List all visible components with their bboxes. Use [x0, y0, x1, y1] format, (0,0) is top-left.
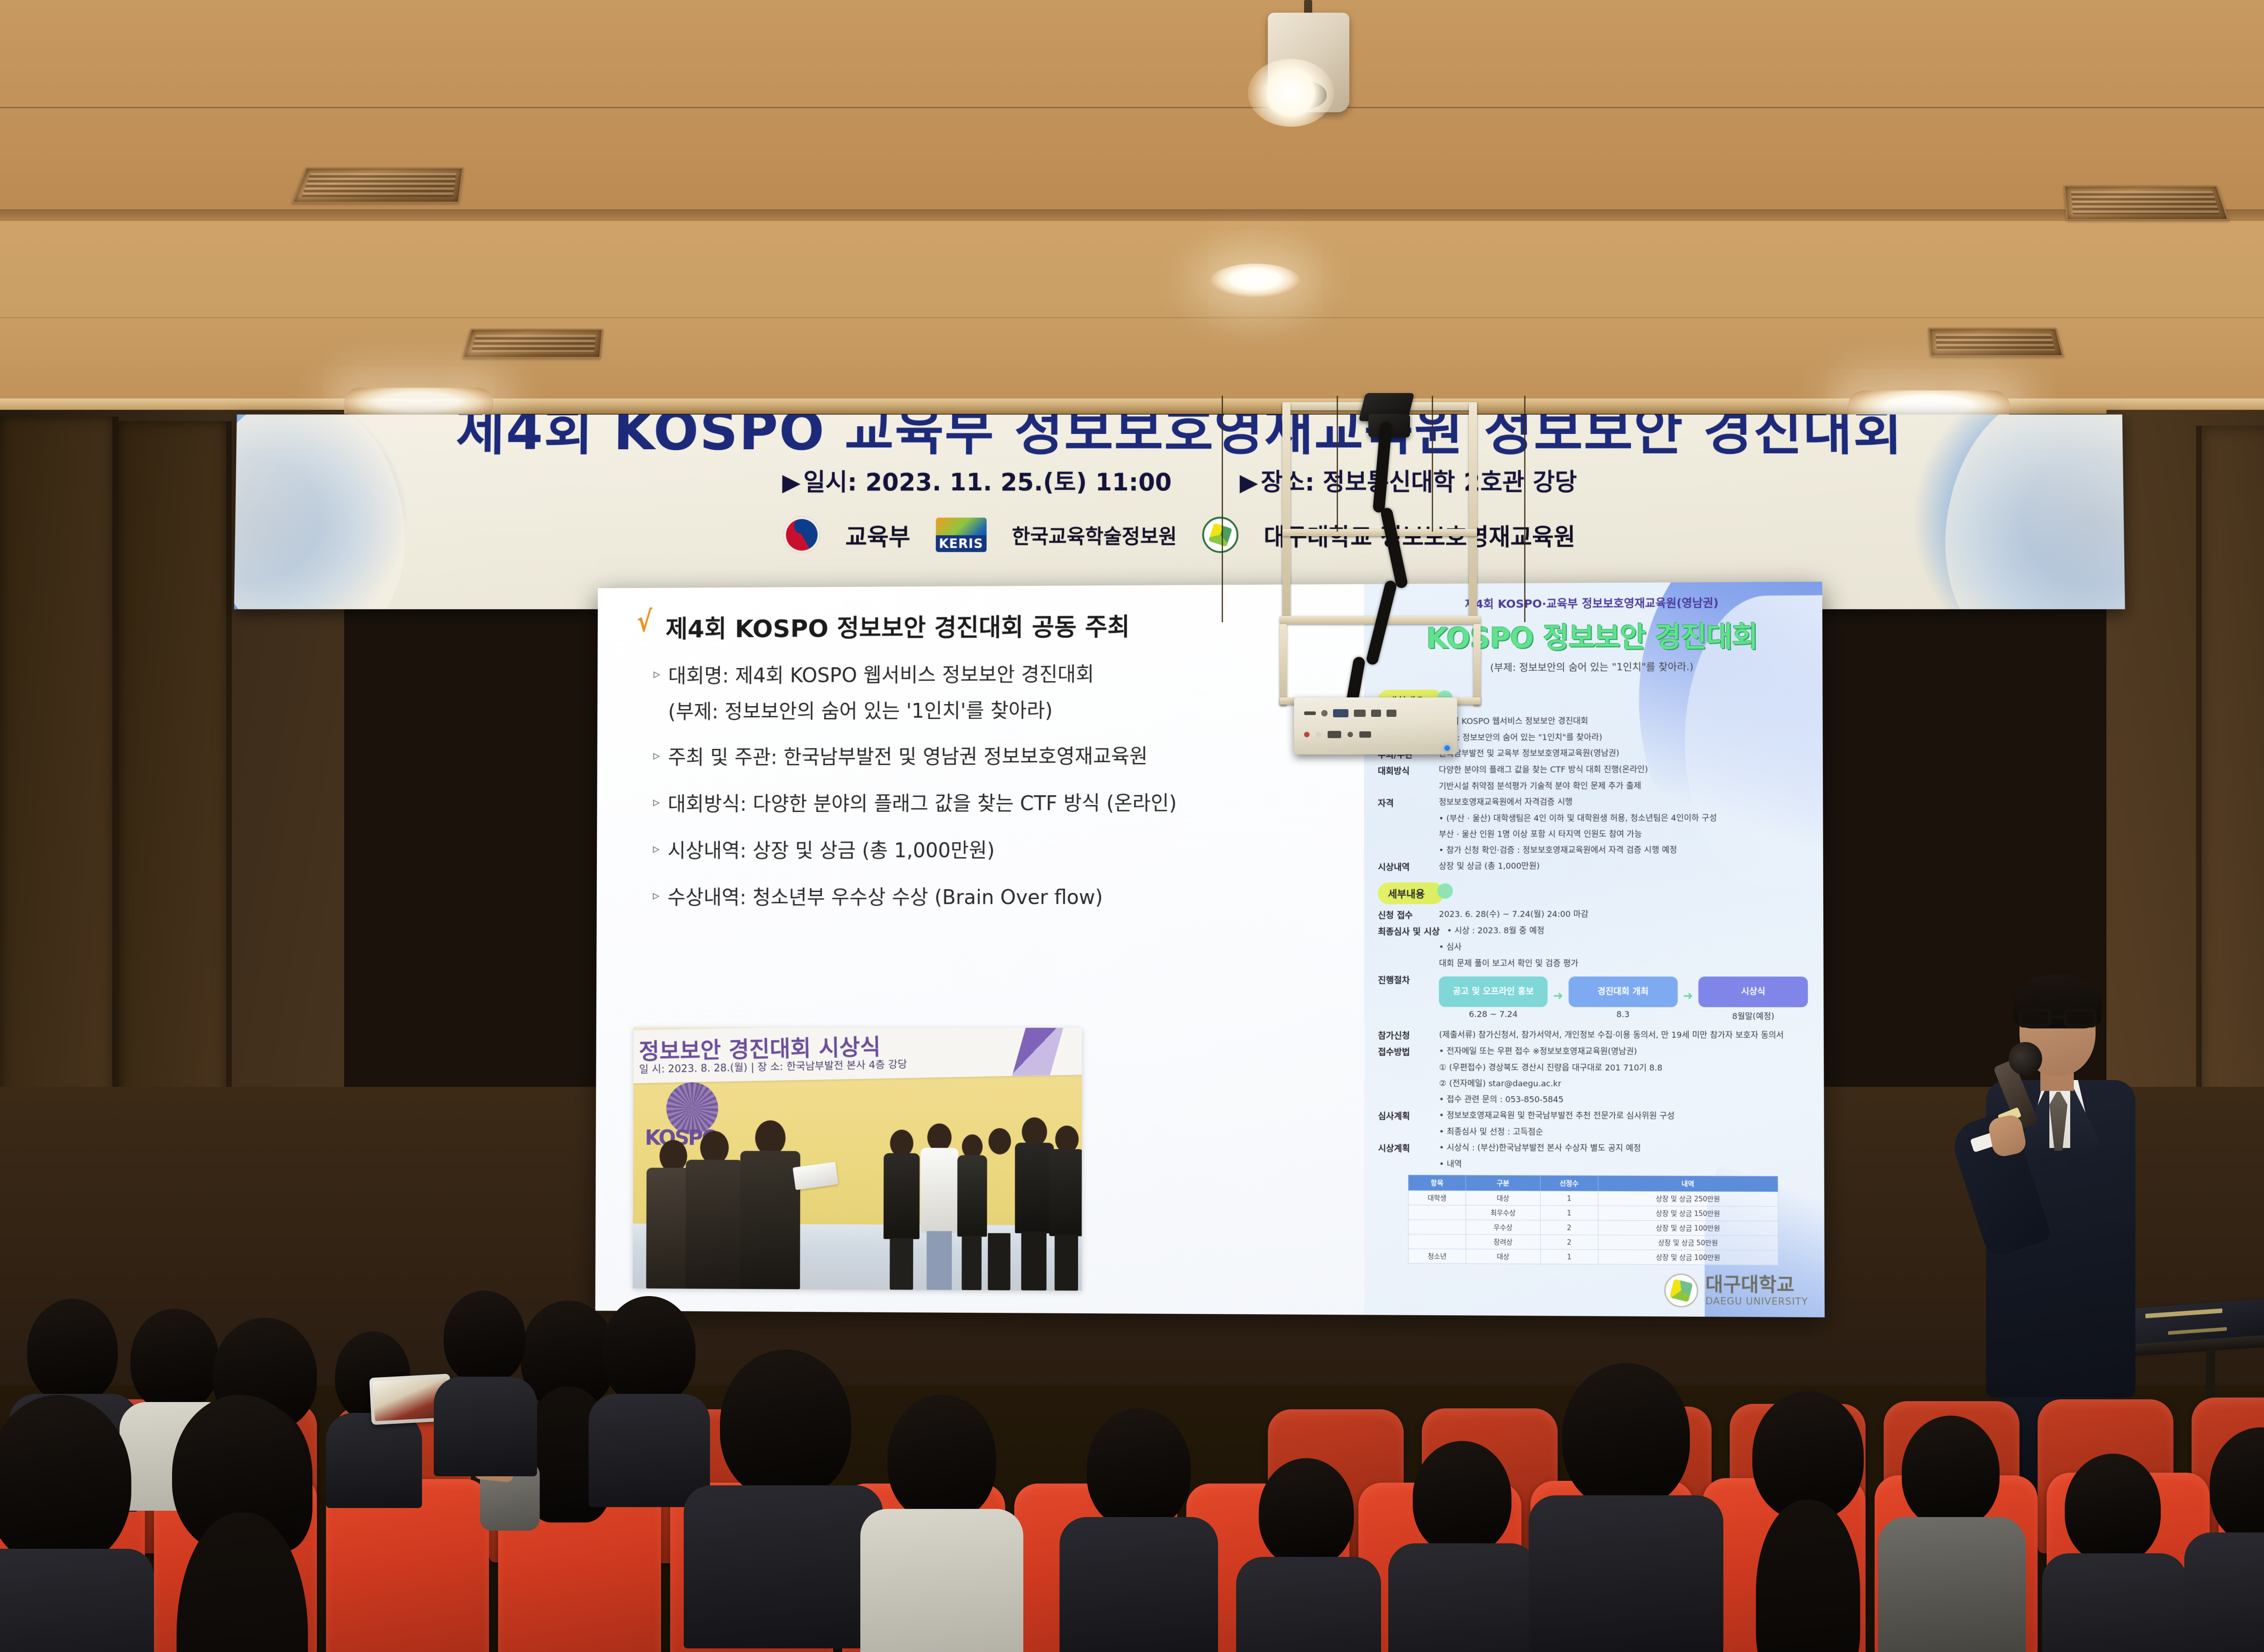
rig-suspension-wire [1524, 396, 1525, 622]
daegu-university-seal-icon [1202, 517, 1238, 553]
spotlight-beam [1248, 59, 1334, 127]
lan-port-icon [1386, 710, 1396, 717]
slide-bullet: ▹ 시상내역: 상장 및 상금 (총 1,000만원) [653, 837, 1352, 864]
poster-kv-key: 접수방법 [1378, 1045, 1432, 1057]
audio-port-icon [1328, 731, 1341, 738]
rig-post [1280, 624, 1287, 706]
audience-head [602, 1296, 696, 1405]
table-row: 최우수상 1 상장 및 상금 150만원 [1408, 1205, 1778, 1221]
bullet-triangle-icon: ▹ [653, 663, 660, 685]
audience-shoulders [2042, 1553, 2187, 1652]
slide-heading: 제4회 KOSPO 정보보안 경진대회 공동 주최 [666, 607, 1130, 644]
poster-kv-row: • 참가 신청 확인·검증 : 정보보호영재교육원에서 자격 검증 시행 예정 [1378, 844, 1808, 857]
award-cell: 상장 및 상금 100만원 [1598, 1220, 1778, 1236]
audience-head [130, 1309, 219, 1411]
table-row: 장려상 2 상장 및 상금 50만원 [1408, 1234, 1778, 1251]
hvac-vent-icon [462, 329, 604, 359]
rig-suspension-wire [1432, 396, 1433, 532]
poster-kv-row: 자격 정보보호영재교육원에서 자격검증 시행 [1378, 796, 1807, 809]
poster-kv-key [1378, 941, 1432, 953]
poster-pill-detail: 세부내용 [1378, 883, 1444, 904]
slide-bullet: ▹ 수상내역: 청소년부 우수상 수상 (Brain Over flow) [653, 884, 1352, 911]
ceiling-seam [0, 107, 2264, 108]
poster-kv-key [1378, 813, 1432, 825]
slide-bullet: ▹ 주최 및 주관: 한국남부발전 및 영남권 정보보호영재교육원 [653, 743, 1352, 771]
ceiling-seam [0, 317, 2264, 318]
event-banner: 제4회 KOSPO 교육부 정보보호영재교육원 정보보안 경진대회 ▶일시: 2… [234, 414, 2125, 609]
vga-port-icon [1333, 709, 1348, 717]
poster-flow-diagram: 공고 및 오프라인 홍보 6.28 ~ 7.24 ➜ 경진대회 개최 8.3 ➜… [1439, 976, 1808, 1022]
table-row: 우수상 2 상장 및 상금 100만원 [1408, 1220, 1778, 1236]
poster-kv-key [1378, 1126, 1432, 1138]
audience-shoulders [684, 1485, 883, 1648]
usb-port-icon [1371, 710, 1381, 717]
poster-kv-key: 자격 [1378, 797, 1432, 809]
poster-kv-key: 최종심사 및 시상 [1378, 925, 1439, 937]
poster-kv-key: 시상계획 [1378, 1142, 1432, 1154]
poster-kv-key: 심사계획 [1378, 1109, 1432, 1122]
audience-shoulders [1060, 1517, 1218, 1652]
flow-step-date: 8월말(예정) [1698, 1010, 1808, 1022]
award-cell: 대상 [1466, 1191, 1540, 1206]
banner-date-text: 일시: 2023. 11. 25.(토) 11:00 [803, 469, 1172, 496]
port-icon [1304, 711, 1316, 715]
banner-date: ▶일시: 2023. 11. 25.(토) 11:00 [782, 463, 1171, 498]
bullet-triangle-icon: ▹ [653, 838, 660, 860]
poster-kv-key: 시상내역 [1378, 861, 1432, 873]
audience-head [1562, 1363, 1690, 1509]
poster-kv-value: 대회 문제 풀이 보고서 확인 및 검증 평가 [1439, 958, 1578, 970]
poster-kv-value: 다양한 분야의 플래그 값을 찾는 CTF 방식 대회 진행(온라인) [1439, 764, 1648, 777]
award-cell [1408, 1220, 1466, 1234]
rig-post [1473, 624, 1481, 706]
poster-kv-row: 대회 문제 풀이 보고서 확인 및 검증 평가 [1378, 958, 1808, 970]
banner-logo-label-keris: 한국교육학술정보원 [1012, 520, 1177, 549]
award-table: 항목 구분 선정수 내역 대학생 대상 1 상장 및 상금 250만원 [1408, 1175, 1779, 1265]
audience-shoulders [1388, 1543, 1538, 1652]
poster-kv-key [1378, 1078, 1432, 1090]
award-cell: 장려상 [1466, 1234, 1540, 1249]
audience-head [1087, 1408, 1191, 1529]
award-table-header-row: 항목 구분 선정수 내역 [1408, 1175, 1778, 1192]
rig-post [1282, 402, 1290, 619]
projector-cable [1380, 507, 1409, 589]
award-cell: 2 [1540, 1235, 1598, 1250]
poster-kv-value: • 내역 [1439, 1158, 1462, 1170]
bullet-triangle-icon: ▹ [653, 792, 660, 813]
ceiling-soffit [0, 221, 2264, 411]
award-cell: 1 [1540, 1205, 1598, 1220]
poster-kv-value: • 시상식 : (부산)한국남부발전 본사 수상자 별도 공지 예정 [1439, 1142, 1641, 1155]
poster-kv-value: 정보보호영재교육원에서 자격검증 시행 [1439, 797, 1573, 809]
poster-kv-row: 시상계획 • 시상식 : (부산)한국남부발전 본사 수상자 별도 공지 예정 [1378, 1142, 1808, 1156]
photo-banner: 정보보안 경진대회 시상식 일 시: 2023. 8. 28.(월) | 장 소… [633, 1028, 1082, 1084]
poster-kv-value: • 정보보호영재교육원 및 한국남부발전 추천 전문가로 심사위원 구성 [1439, 1110, 1674, 1123]
poster-kv-value: • 시상 : 2023. 8월 중 예정 [1447, 925, 1545, 937]
hvac-vent-icon [1928, 328, 2064, 357]
hvac-vent-icon [292, 167, 464, 203]
award-cell: 우수상 [1466, 1220, 1540, 1235]
banner-logo-strip: 교육부 KERIS 한국교육학술정보원 대구대학교 정보보호영재교육원 [235, 517, 2125, 553]
banner-logo-label-moe: 교육부 [845, 518, 911, 552]
rca-white-icon [1316, 732, 1321, 737]
award-cell: 1 [1540, 1191, 1598, 1206]
poster-kv-value: 부산 · 울산 인원 1명 이상 포함 시 타지역 인원도 참여 가능 [1439, 829, 1642, 841]
poster-kv-row: 부산 · 울산 인원 1명 이상 포함 시 타지역 인원도 참여 가능 [1378, 828, 1808, 841]
award-table-header: 선정수 [1540, 1176, 1598, 1191]
poster-kv-value: • 최종심사 및 선정 : 고득점순 [1439, 1126, 1543, 1138]
flow-step-box: 시상식 [1698, 976, 1808, 1007]
audience-shoulders [434, 1377, 537, 1476]
flow-step-box: 경진대회 개최 [1568, 976, 1678, 1007]
audience-shoulders [1878, 1517, 2026, 1652]
slide-bullet-text: 대회방식: 다양한 분야의 플래그 값을 찾는 CTF 방식 (온라인) [668, 791, 1177, 818]
poster-kv-row: 심사계획 • 정보보호영재교육원 및 한국남부발전 추천 전문가로 심사위원 구… [1378, 1109, 1808, 1123]
poster-kv-row: • 최종심사 및 선정 : 고득점순 [1378, 1126, 1808, 1139]
rig-post [1469, 402, 1477, 619]
rig-suspension-wire [1337, 396, 1338, 532]
award-cell: 상장 및 상금 250만원 [1598, 1191, 1778, 1207]
poster-kv-row: 시상내역 상장 및 상금 (총 1,000만원) [1378, 860, 1808, 873]
audience-shoulders [860, 1509, 1023, 1652]
audience-shoulders [1236, 1557, 1381, 1652]
flow-step-box: 공고 및 오프라인 홍보 [1439, 976, 1548, 1007]
slide-bullet-text: 대회명: 제4회 KOSPO 웹서비스 정보보안 경진대회 [668, 662, 1094, 689]
projector-power-led-icon [1444, 745, 1450, 751]
poster-kv-row: 신청 접수 2023. 6. 28(수) ~ 7.24(월) 24:00 마감 [1378, 909, 1808, 922]
poster-kv-key [1378, 958, 1432, 970]
poster-kv-row: 대회방식 다양한 분야의 플래그 값을 찾는 CTF 방식 대회 진행(온라인) [1378, 764, 1807, 777]
service-port-icon [1359, 731, 1371, 738]
korea-government-emblem-icon [784, 517, 820, 553]
poster-kv-key: 참가신청 [1378, 1029, 1432, 1041]
award-cell: 상장 및 상금 150만원 [1598, 1206, 1778, 1221]
poster-kv-row: 참가신청 (제출서류) 참가신청서, 참가서약서, 개인정보 수집·이용 동의서… [1378, 1029, 1808, 1042]
projector-connector-row [1304, 731, 1371, 738]
flow-step: 경진대회 개최 8.3 [1568, 976, 1678, 1019]
poster-kv-value: • 심사 [1439, 941, 1462, 953]
poster-kv-row: • 내역 [1378, 1158, 1808, 1172]
auditorium-scene: 제4회 KOSPO 교육부 정보보호영재교육원 정보보안 경진대회 ▶일시: 2… [0, 0, 2264, 1652]
arrow-right-icon: ➜ [1683, 976, 1693, 1003]
poster-kv-key [1378, 829, 1432, 841]
award-table-header: 내역 [1598, 1176, 1778, 1192]
arrow-right-icon: ➜ [1553, 976, 1563, 1003]
audience-head [27, 1299, 118, 1403]
flow-step: 공고 및 오프라인 홍보 6.28 ~ 7.24 [1439, 976, 1548, 1019]
table-row: 대학생 대상 1 상장 및 상금 250만원 [1408, 1191, 1778, 1206]
projection-screen: √ 제4회 KOSPO 정보보안 경진대회 공동 주최 ▹ 대회명: 제4회 K… [595, 581, 1825, 1317]
audience-shoulders [326, 1413, 422, 1508]
rig-suspension-wire [1222, 396, 1223, 622]
photo-banner-triangle-icon [1011, 1028, 1066, 1076]
award-table-header: 항목 [1408, 1175, 1466, 1191]
knob-icon [1321, 710, 1328, 716]
ceiling-edge-band [0, 209, 2264, 221]
rca-red-icon [1304, 732, 1309, 737]
flow-step-date: 8.3 [1568, 1010, 1678, 1019]
triangle-marker-icon: ▶ [1240, 469, 1258, 496]
poster-kv-value: 상장 및 상금 (총 1,000만원) [1439, 861, 1540, 873]
audience-section [0, 1259, 2264, 1652]
poster-kv-value: ② (전자메일) star@daegu.ac.kr [1439, 1078, 1561, 1090]
bullet-triangle-icon: ▹ [653, 745, 660, 767]
poster-kv-row: • 접수 관련 문의 : 053-850-5845 [1378, 1094, 1808, 1106]
bullet-triangle-icon: ▹ [653, 885, 660, 907]
poster-kv-value: 2023. 6. 28(수) ~ 7.24(월) 24:00 마감 [1439, 909, 1588, 921]
projector-port-row [1304, 709, 1396, 717]
rig-crossbar [1282, 529, 1477, 536]
triangle-marker-icon: ▶ [782, 469, 801, 496]
projector [1294, 697, 1457, 754]
award-cell: 2 [1540, 1220, 1598, 1235]
award-cell: 최우수상 [1466, 1205, 1540, 1220]
audience-head [2065, 1454, 2161, 1563]
audience-shoulders [1529, 1495, 1723, 1652]
hdmi-port-icon [1354, 710, 1366, 717]
checkmark-icon: √ [637, 610, 652, 635]
banner-info-row: ▶일시: 2023. 11. 25.(토) 11:00 ▶장소: 정보통신대학 … [235, 463, 2123, 498]
poster-kv-value: • 전자메일 또는 우편 접수 ※정보보호영재교육원(영남권) [1439, 1046, 1637, 1058]
slide-bullet-text: 수상내역: 청소년부 우수상 수상 (Brain Over flow) [667, 885, 1103, 911]
award-cell [1408, 1234, 1466, 1249]
poster-flow-label: 진행절차 [1378, 974, 1432, 1025]
poster-kv-key: 대회방식 [1378, 764, 1432, 777]
recessed-downlight-icon [1210, 264, 1300, 298]
award-cell: 상장 및 상금 50만원 [1598, 1235, 1778, 1250]
poster-kv-row: 접수방법 • 전자메일 또는 우편 접수 ※정보보호영재교육원(영남권) [1378, 1045, 1808, 1058]
slide-bullet: ▹ 대회명: 제4회 KOSPO 웹서비스 정보보안 경진대회 (부제: 정보보… [653, 661, 1352, 725]
poster-kv-row: ② (전자메일) star@daegu.ac.kr [1378, 1078, 1808, 1090]
poster-kv-value: • 참가 신청 확인·검증 : 정보보호영재교육원에서 자격 검증 시행 예정 [1439, 845, 1677, 857]
audience-head [444, 1291, 525, 1384]
ceiling-projector-rig [1268, 399, 1494, 765]
audience-shoulders [0, 1549, 154, 1652]
hvac-vent-icon [2063, 185, 2230, 221]
slide-left-column: √ 제4회 KOSPO 정보보안 경진대회 공동 주최 ▹ 대회명: 제4회 K… [595, 584, 1365, 1315]
slide-bullet-text: 시상내역: 상장 및 상금 (총 1,000만원) [667, 838, 994, 864]
audience-head [1413, 1441, 1511, 1554]
poster-kv-value: 기반시설 취약점 분석평가 기술적 분야 확인 문제 추가 출제 [1439, 780, 1641, 792]
poster-kv-key [1378, 1158, 1432, 1171]
award-cell [1408, 1205, 1466, 1220]
keris-logo-icon: KERIS [935, 518, 986, 552]
slide-bullet-subtext: (부제: 정보보안의 숨어 있는 '1인치'를 찾아라) [668, 694, 1094, 725]
poster-kv-row: 기반시설 취약점 분석평가 기술적 분야 확인 문제 추가 출제 [1378, 780, 1807, 792]
poster-kv-value: • (부산 · 울산) 대학생팀은 4인 이하 및 대학원생 허용, 청소년팀은… [1439, 812, 1717, 825]
poster-kv-key: 신청 접수 [1378, 909, 1432, 921]
poster-kv-key [1378, 1094, 1432, 1105]
audience-head [887, 1395, 996, 1522]
slide-bullet-text: 주최 및 주관: 한국남부발전 및 영남권 정보보호영재교육원 [668, 744, 1148, 771]
poster-kv-key [1378, 1062, 1432, 1074]
keris-wordmark: KERIS [935, 535, 986, 552]
poster-kv-key [1378, 781, 1432, 792]
banner-title: 제4회 KOSPO 교육부 정보보호영재교육원 정보보안 경진대회 [236, 414, 2123, 465]
slide-heading-row: √ 제4회 KOSPO 정보보안 경진대회 공동 주최 [635, 606, 1351, 645]
audience-shoulders [2184, 1532, 2264, 1652]
poster-kv-value: • 접수 관련 문의 : 053-850-5845 [1439, 1094, 1564, 1106]
poster-kv-value: (제출서류) 참가신청서, 참가서약서, 개인정보 수집·이용 동의서, 만 1… [1439, 1029, 1784, 1042]
audience-head [1902, 1416, 2000, 1528]
poster-kv-row: • (부산 · 울산) 대학생팀은 4인 이하 및 대학원생 허용, 청소년팀은… [1378, 812, 1808, 825]
slide-bullet-list: ▹ 대회명: 제4회 KOSPO 웹서비스 정보보안 경진대회 (부제: 정보보… [634, 661, 1352, 911]
rca-icon [1348, 732, 1353, 737]
audience-shoulders [589, 1394, 710, 1507]
poster-flow-row: 진행절차 공고 및 오프라인 홍보 6.28 ~ 7.24 ➜ 경진대회 개최 … [1378, 974, 1808, 1026]
poster-kv-row: 최종심사 및 시상 • 시상 : 2023. 8월 중 예정 [1378, 925, 1808, 937]
poster-kv-value: ① (우편접수) 경상북도 경산시 진량읍 대구대로 201 710기 8.8 [1439, 1062, 1662, 1074]
flow-step: 시상식 8월말(예정) [1698, 976, 1808, 1022]
award-ceremony-photo: KOSPO [633, 1028, 1082, 1291]
poster-kv-key [1378, 845, 1432, 857]
audience-head [720, 1349, 851, 1499]
flow-step-date: 6.28 ~ 7.24 [1439, 1009, 1548, 1019]
poster-kv-row: ① (우편접수) 경상북도 경산시 진량읍 대구대로 201 710기 8.8 [1378, 1062, 1808, 1075]
poster-kv-row: • 심사 [1378, 941, 1808, 953]
award-table-header: 구분 [1466, 1175, 1540, 1191]
eyeglasses-icon [2019, 1008, 2096, 1028]
award-cell: 대학생 [1408, 1191, 1466, 1205]
slide-bullet: ▹ 대회방식: 다양한 분야의 플래그 값을 찾는 CTF 방식 (온라인) [653, 790, 1351, 818]
audience-head [1259, 1458, 1354, 1567]
